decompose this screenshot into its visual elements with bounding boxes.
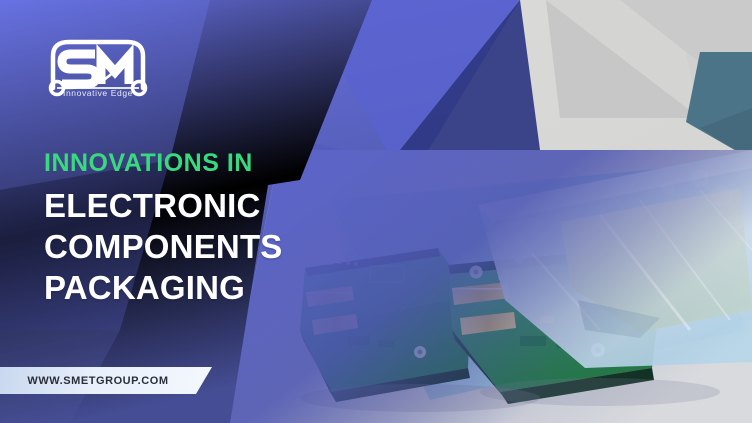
url-ribbon[interactable]: WWW.SMETGROUP.COM (0, 367, 212, 394)
headline-eyebrow: INNOVATIONS IN (44, 148, 374, 178)
headline-line-1: ELECTRONIC (44, 185, 374, 226)
logo-tagline: Innovative Edge (43, 88, 153, 98)
headline-line-3: PACKAGING (44, 267, 374, 308)
marketing-banner: Innovative Edge INNOVATIONS IN ELECTRONI… (0, 0, 752, 423)
headline-block: INNOVATIONS IN ELECTRONIC COMPONENTS PAC… (44, 148, 374, 308)
website-url[interactable]: WWW.SMETGROUP.COM (0, 367, 196, 394)
headline-line-2: COMPONENTS (44, 226, 374, 267)
